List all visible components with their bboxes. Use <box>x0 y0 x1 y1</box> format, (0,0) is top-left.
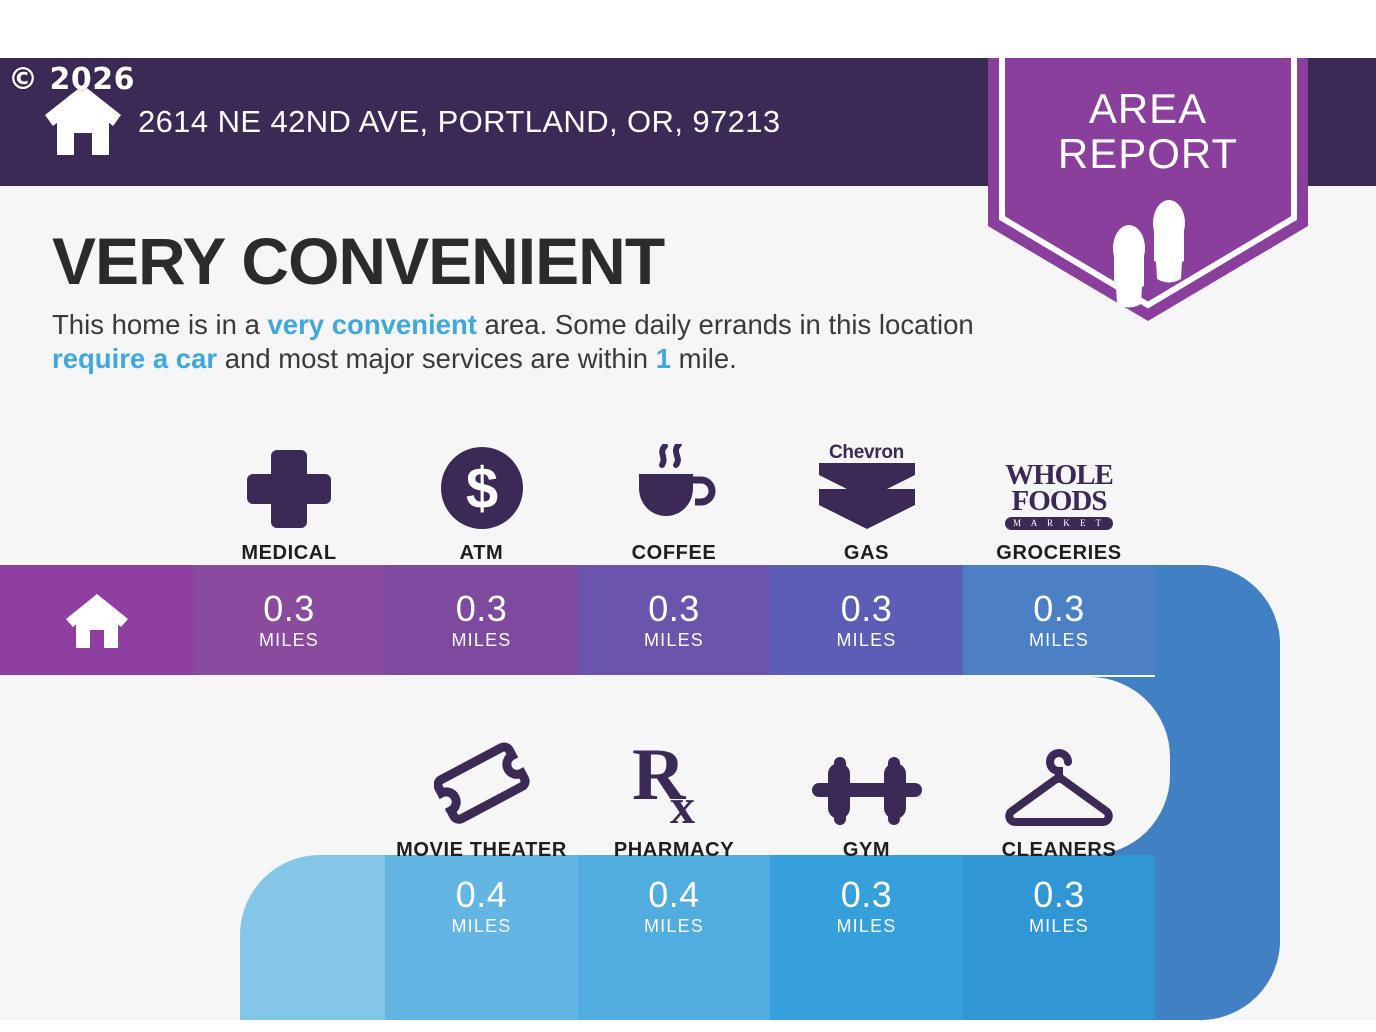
category-medical[interactable]: MEDICAL <box>193 425 385 565</box>
svg-text:x: x <box>670 778 695 827</box>
summary-description: This home is in a very convenient area. … <box>52 308 982 376</box>
bottom-white-margin <box>0 1020 1376 1032</box>
category-atm[interactable]: $ ATM <box>385 425 578 565</box>
category-label: GAS <box>844 542 889 565</box>
category-pharmacy[interactable]: R x PHARMACY <box>578 722 770 862</box>
distance-value: 0.4 <box>648 877 700 913</box>
chevron-logo-icon: Chevron <box>819 444 915 530</box>
category-label: MOVIE THEATER <box>396 839 567 862</box>
distance-movie-theater: 0.4 MILES <box>385 853 578 961</box>
distance-value: 0.3 <box>1033 877 1085 913</box>
distance-groceries: 0.3 MILES <box>963 565 1155 677</box>
distance-unit: MILES <box>1029 629 1089 651</box>
distance-unit: MILES <box>259 629 319 651</box>
distance-unit: MILES <box>644 915 704 937</box>
distance-value: 0.3 <box>841 591 893 627</box>
desc-highlight-1: very convenient <box>268 309 477 340</box>
distance-unit: MILES <box>451 915 511 937</box>
desc-part-1: This home is in a <box>52 309 268 340</box>
category-icons-row-2: MOVIE THEATER R x PHARMACY <box>0 722 1376 862</box>
distance-value: 0.3 <box>648 591 700 627</box>
distance-value: 0.3 <box>841 877 893 913</box>
top-white-margin <box>0 0 1376 58</box>
distance-value: 0.3 <box>263 591 315 627</box>
distance-unit: MILES <box>836 629 896 651</box>
desc-highlight-3: 1 <box>656 343 671 374</box>
category-coffee[interactable]: COFFEE <box>578 425 770 565</box>
desc-part-2: area. Some daily errands in this locatio… <box>477 309 974 340</box>
category-gas[interactable]: Chevron GAS <box>770 425 963 565</box>
area-report-page: 0.3 MILES 0.3 MILES 0.3 MILES 0.3 MILES … <box>0 0 1376 1032</box>
medical-cross-icon <box>247 444 331 530</box>
segment-bottom-tail <box>1155 853 1290 1020</box>
whole-foods-line-3: M A R K E T <box>1005 517 1113 530</box>
distance-coffee: 0.3 MILES <box>578 565 770 677</box>
area-report-badge: AREA REPORT <box>988 58 1308 321</box>
category-label: COFFEE <box>632 542 717 565</box>
category-groceries[interactable]: WHOLE FOODS M A R K E T GROCERIES <box>963 425 1155 565</box>
category-icons-row-1: MEDICAL $ ATM COFFEE <box>0 425 1376 565</box>
copyright-watermark: © 2026 <box>8 62 135 97</box>
distance-unit: MILES <box>644 629 704 651</box>
distance-pharmacy: 0.4 MILES <box>578 853 770 961</box>
distance-value: 0.3 <box>456 591 508 627</box>
distance-unit: MILES <box>451 629 511 651</box>
category-cleaners[interactable]: CLEANERS <box>963 722 1155 862</box>
category-movie-theater[interactable]: MOVIE THEATER <box>385 722 578 862</box>
desc-highlight-2: require a car <box>52 343 217 374</box>
whole-foods-line-2: FOODS <box>1005 488 1113 515</box>
home-segment-icon-wrap <box>0 565 193 677</box>
category-label: GROCERIES <box>996 542 1121 565</box>
desc-part-3: and most major services are within <box>217 343 656 374</box>
dollar-coin-icon: $ <box>440 444 524 530</box>
rx-icon: R x <box>630 741 718 827</box>
home-icon <box>65 592 129 650</box>
segment-bottom-lead <box>240 853 385 1020</box>
distance-medical: 0.3 MILES <box>193 565 385 677</box>
hanger-icon <box>1004 741 1114 827</box>
ticket-icon <box>434 741 530 827</box>
property-address: 2614 NE 42ND AVE, PORTLAND, OR, 97213 <box>138 58 781 186</box>
distance-unit: MILES <box>1029 915 1089 937</box>
dumbbell-icon <box>812 741 922 827</box>
page-title: VERY CONVENIENT <box>52 228 664 294</box>
category-label: CLEANERS <box>1002 839 1117 862</box>
category-label: GYM <box>843 839 890 862</box>
coffee-cup-icon <box>629 444 719 530</box>
distance-value: 0.3 <box>1033 591 1085 627</box>
chevron-wordmark: Chevron <box>829 443 904 462</box>
distance-value: 0.4 <box>456 877 508 913</box>
whole-foods-logo-icon: WHOLE FOODS M A R K E T <box>1005 444 1113 530</box>
distance-atm: 0.3 MILES <box>385 565 578 677</box>
category-label: PHARMACY <box>614 839 734 862</box>
svg-text:$: $ <box>465 456 497 521</box>
distance-gas: 0.3 MILES <box>770 565 963 677</box>
distance-unit: MILES <box>836 915 896 937</box>
distance-gym: 0.3 MILES <box>770 853 963 961</box>
distance-cleaners: 0.3 MILES <box>963 853 1155 961</box>
category-gym[interactable]: GYM <box>770 722 963 862</box>
desc-part-4: mile. <box>671 343 737 374</box>
category-label: ATM <box>460 542 504 565</box>
category-label: MEDICAL <box>241 542 336 565</box>
